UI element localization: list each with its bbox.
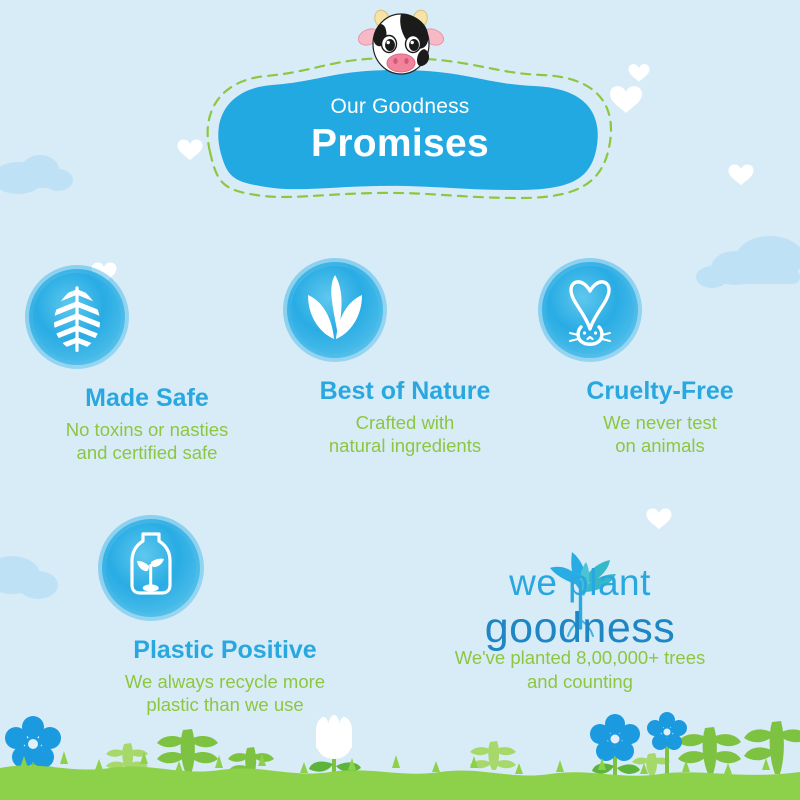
- heart-icon: [729, 164, 754, 185]
- promise-card-best-of-nature: Best of Nature Crafted with natural ingr…: [280, 255, 530, 458]
- banner-title: Promises: [311, 124, 489, 163]
- cloud-icon: [0, 155, 73, 194]
- badge: [535, 255, 785, 365]
- we-plant-goodness-block: we plant goodness We've planted 8,00,000…: [420, 520, 740, 694]
- we-plant-goodness-line1: we plant: [420, 562, 740, 604]
- blue-flower: [5, 716, 61, 768]
- promise-description: No toxins or nasties and certified safe: [22, 418, 272, 464]
- we-plant-goodness-line2: goodness: [420, 604, 740, 653]
- promise-description: Crafted with natural ingredients: [280, 411, 530, 457]
- blue-flower: [647, 712, 687, 750]
- blue-flower: [590, 714, 640, 761]
- badge: [95, 512, 355, 624]
- cow-mascot-icon: [358, 6, 444, 80]
- we-plant-goodness-logo: we plant goodness: [420, 520, 740, 640]
- banner-subtitle: Our Goodness: [331, 96, 470, 117]
- leaf-icon: [22, 262, 132, 372]
- promise-card-made-safe: Made Safe No toxins or nasties and certi…: [22, 262, 272, 465]
- bottle-sprout-icon: [95, 512, 207, 624]
- promise-title: Plastic Positive: [95, 637, 355, 663]
- we-plant-goodness-caption: We've planted 8,00,000+ trees and counti…: [420, 646, 740, 694]
- badge: [22, 262, 272, 372]
- promises-infographic: Our Goodness Promises: [0, 0, 800, 800]
- promise-card-cruelty-free: Cruelty-Free We never test on animals: [535, 255, 785, 458]
- cloud-icon: [0, 556, 58, 599]
- grass-mound: [0, 765, 800, 800]
- sprout-leaves-icon: [280, 255, 390, 365]
- badge: [280, 255, 530, 365]
- promise-title: Made Safe: [22, 385, 272, 411]
- heart-icon: [629, 64, 650, 82]
- grass-and-flowers-border: [0, 700, 800, 800]
- promise-title: Cruelty-Free: [535, 378, 785, 404]
- promise-card-plastic-positive: Plastic Positive We always recycle more …: [95, 512, 355, 717]
- promise-description: We never test on animals: [535, 411, 785, 457]
- bunny-heart-icon: [535, 255, 645, 365]
- promise-title: Best of Nature: [280, 378, 530, 404]
